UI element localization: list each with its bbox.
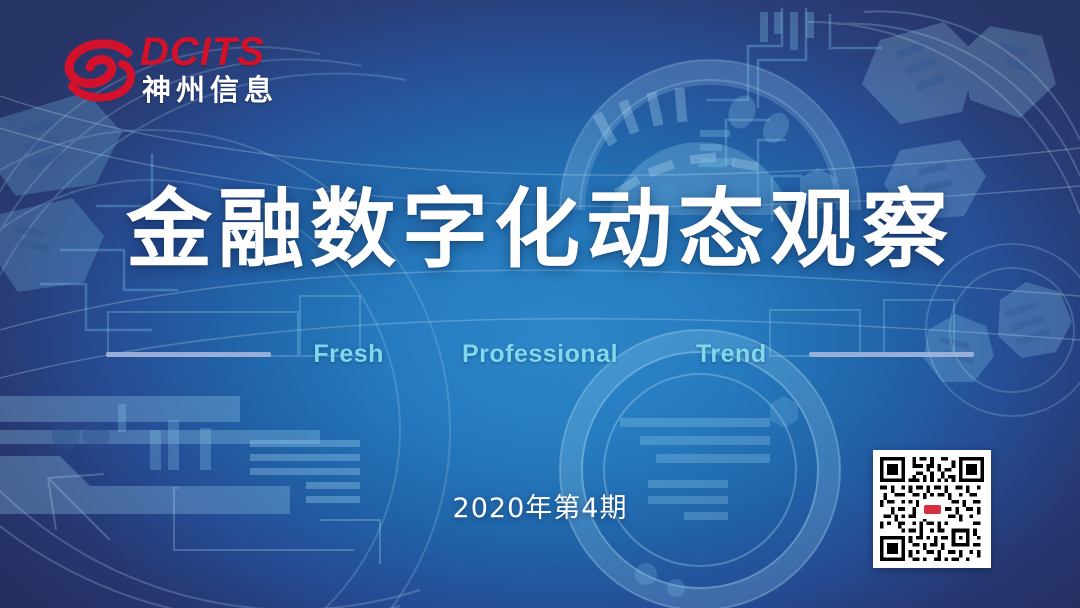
qr-code[interactable] (873, 450, 991, 568)
brand-logo: DCITS 神州信息 (62, 30, 292, 116)
tagline-row: Fresh Professional Trend (0, 337, 1080, 371)
dcits-swirl-icon (62, 36, 138, 108)
tagline-words: Fresh Professional Trend (313, 342, 766, 367)
brand-chinese-name: 神州信息 (142, 76, 278, 105)
tagline-word-trend: Trend (696, 342, 767, 367)
poster-canvas: DCITS 神州信息 金融数字化动态观察 Fresh Professional … (0, 0, 1080, 608)
decorative-rule-left (106, 352, 271, 357)
qr-center-logo-icon (919, 499, 945, 519)
page-title: 金融数字化动态观察 (0, 185, 1080, 275)
tagline-word-professional: Professional (462, 342, 618, 367)
brand-wordmark: DCITS (140, 32, 265, 72)
decorative-rule-right (809, 352, 974, 357)
tagline-word-fresh: Fresh (313, 342, 384, 367)
